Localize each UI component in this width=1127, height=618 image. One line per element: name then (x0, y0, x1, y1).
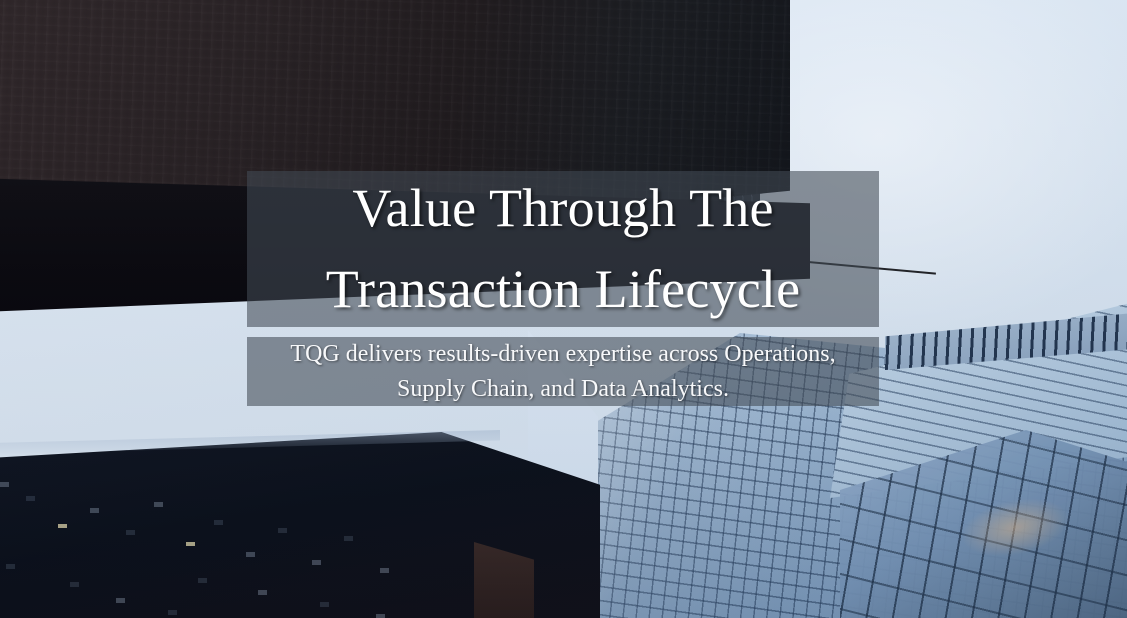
page-subtitle: TQG delivers results-driven expertise ac… (290, 337, 835, 405)
page-title: Value Through The Transaction Lifecycle (326, 168, 801, 330)
hero-banner: Value Through The Transaction Lifecycle … (0, 0, 1127, 618)
hero-subtitle-panel: TQG delivers results-driven expertise ac… (247, 337, 879, 406)
hero-title-panel: Value Through The Transaction Lifecycle (247, 171, 879, 327)
